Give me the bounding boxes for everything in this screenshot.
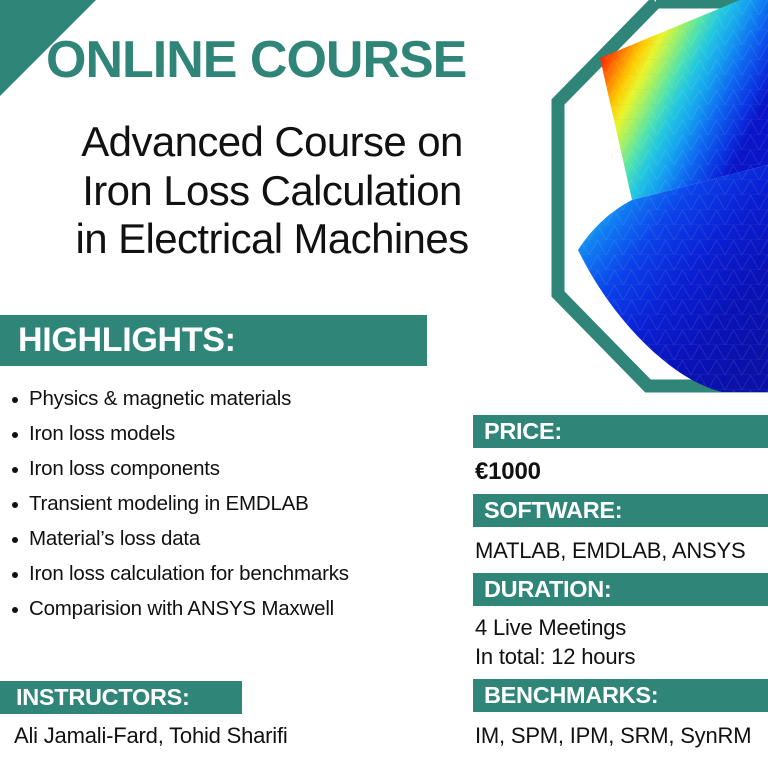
list-item: Iron loss components xyxy=(0,452,460,487)
list-item: Iron loss models xyxy=(0,417,460,452)
list-item-label: Iron loss calculation for benchmarks xyxy=(29,564,349,585)
software-heading: SOFTWARE: xyxy=(473,494,768,527)
info-column: PRICE: €1000 SOFTWARE: MATLAB, EMDLAB, A… xyxy=(473,0,768,768)
duration-heading: DURATION: xyxy=(473,573,768,606)
bullet-dot-icon xyxy=(12,397,18,403)
list-item: Comparision with ANSYS Maxwell xyxy=(0,592,460,627)
page-title: Advanced Course on Iron Loss Calculation… xyxy=(8,118,536,264)
bullet-dot-icon xyxy=(12,502,18,508)
instructors-value: Ali Jamali-Fard, Tohid Sharifi xyxy=(14,723,288,749)
course-poster: ONLINE COURSE Advanced Course on Iron Lo… xyxy=(0,0,768,768)
title-line-2: Iron Loss Calculation xyxy=(8,167,536,216)
instructors-heading: INSTRUCTORS: xyxy=(0,681,242,714)
duration-value: 4 Live Meetings In total: 12 hours xyxy=(475,613,635,671)
list-item: Transient modeling in EMDLAB xyxy=(0,487,460,522)
bullet-dot-icon xyxy=(12,467,18,473)
bullet-dot-icon xyxy=(12,432,18,438)
title-line-3: in Electrical Machines xyxy=(8,215,536,264)
list-item-label: Transient modeling in EMDLAB xyxy=(29,494,309,515)
kicker-online-course: ONLINE COURSE xyxy=(46,34,546,86)
list-item: Physics & magnetic materials xyxy=(0,382,460,417)
bullet-dot-icon xyxy=(12,607,18,613)
bullet-dot-icon xyxy=(12,572,18,578)
list-item-label: Iron loss models xyxy=(29,424,175,445)
list-item-label: Iron loss components xyxy=(29,459,220,480)
benchmarks-value: IM, SPM, IPM, SRM, SynRM xyxy=(475,721,751,750)
price-value: €1000 xyxy=(475,456,541,488)
list-item-label: Comparision with ANSYS Maxwell xyxy=(29,599,334,620)
highlights-list: Physics & magnetic materials Iron loss m… xyxy=(0,382,460,627)
title-line-1: Advanced Course on xyxy=(8,118,536,167)
list-item: Iron loss calculation for benchmarks xyxy=(0,557,460,592)
highlights-heading: HIGHLIGHTS: xyxy=(0,315,427,366)
software-value: MATLAB, EMDLAB, ANSYS xyxy=(475,536,745,565)
list-item-label: Physics & magnetic materials xyxy=(29,389,291,410)
list-item-label: Material’s loss data xyxy=(29,529,200,550)
bullet-dot-icon xyxy=(12,537,18,543)
list-item: Material’s loss data xyxy=(0,522,460,557)
price-heading: PRICE: xyxy=(473,415,768,448)
benchmarks-heading: BENCHMARKS: xyxy=(473,679,768,712)
